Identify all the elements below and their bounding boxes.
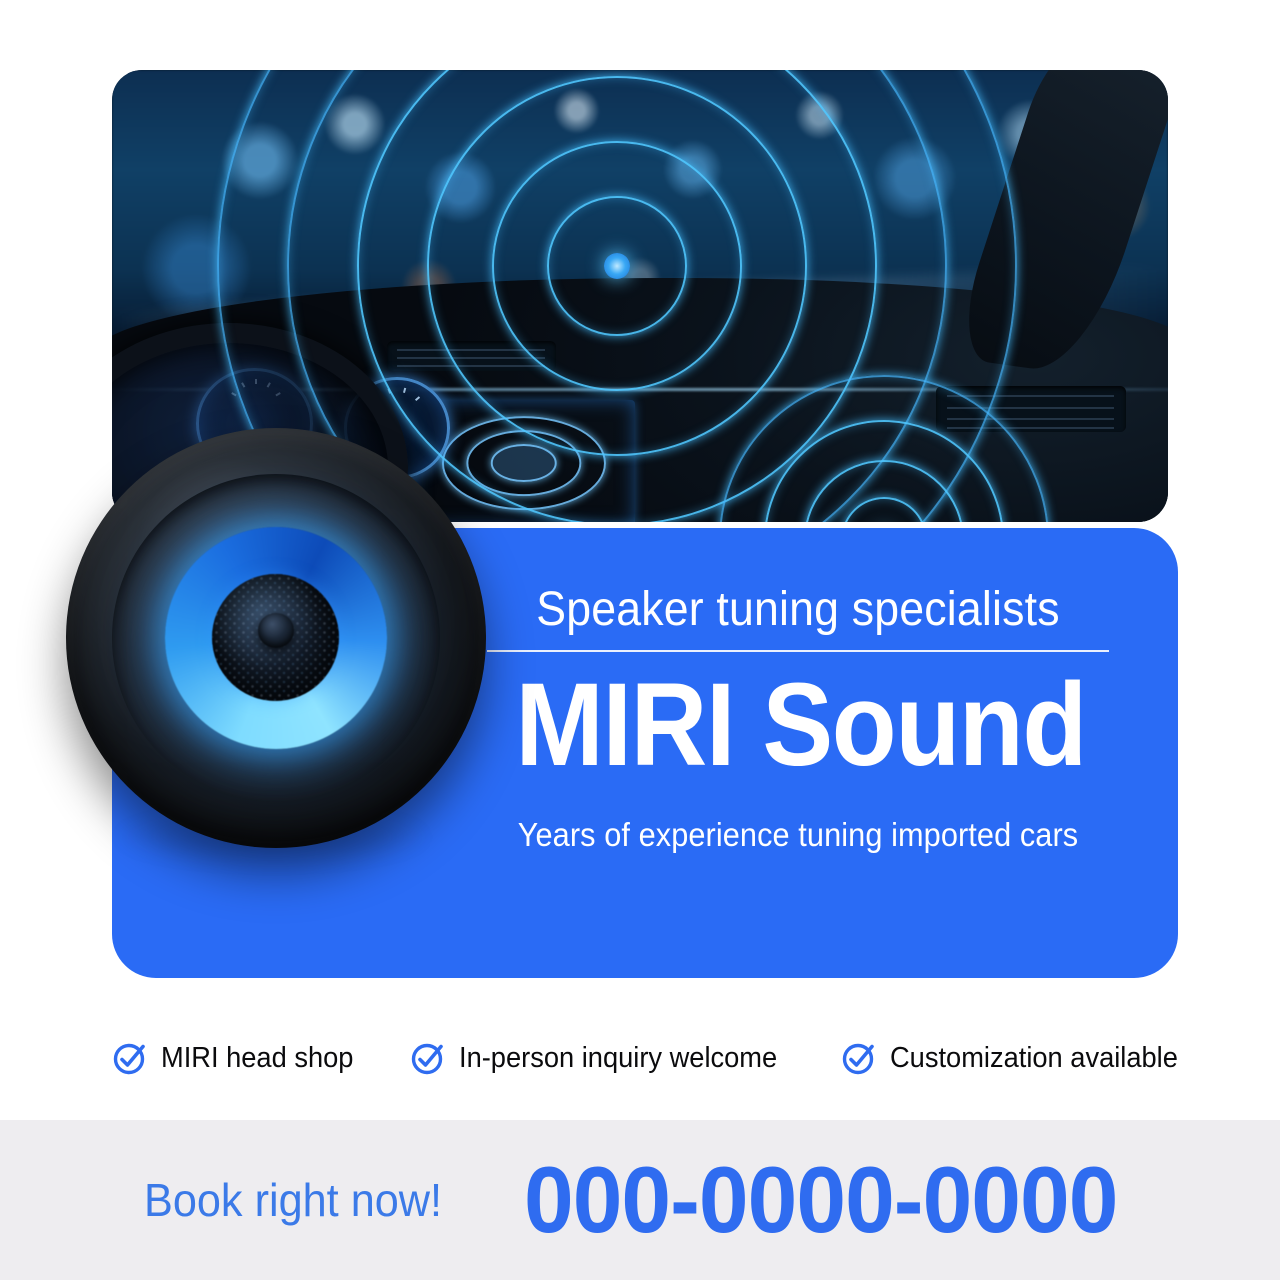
promo-copy: Speaker tuning specialists MIRI Sound Ye… [484, 584, 1112, 854]
speaker-image [58, 418, 498, 878]
check-circle-icon [410, 1040, 446, 1076]
tagline: Years of experience tuning imported cars [506, 816, 1090, 854]
phone-number[interactable]: 000-0000-0000 [524, 1146, 1117, 1254]
features-row: MIRI head shop In-person inquiry welcome… [112, 1028, 1178, 1088]
feature-label: MIRI head shop [161, 1042, 353, 1075]
feature-label: In-person inquiry welcome [459, 1042, 777, 1075]
cta-label: Book right now! [144, 1173, 442, 1227]
speaker-surround [112, 474, 440, 802]
speaker-blue-glow-ring [165, 527, 388, 750]
headline: Speaker tuning specialists [506, 584, 1090, 636]
feature-item: Customization available [841, 1040, 1196, 1076]
check-circle-icon [112, 1040, 148, 1076]
poster-root: Speaker tuning specialists MIRI Sound Ye… [0, 0, 1280, 1280]
speaker-dust-cap [258, 613, 294, 649]
brand-title: MIRI Sound [515, 666, 1080, 784]
feature-item: In-person inquiry welcome [410, 1040, 797, 1076]
speaker-body [66, 428, 486, 848]
feature-label: Customization available [890, 1042, 1178, 1075]
speaker-cone [212, 574, 339, 701]
headline-divider [487, 650, 1109, 652]
feature-item: MIRI head shop [112, 1040, 366, 1076]
cta-bar: Book right now! 000-0000-0000 [0, 1120, 1280, 1280]
check-circle-icon [841, 1040, 877, 1076]
